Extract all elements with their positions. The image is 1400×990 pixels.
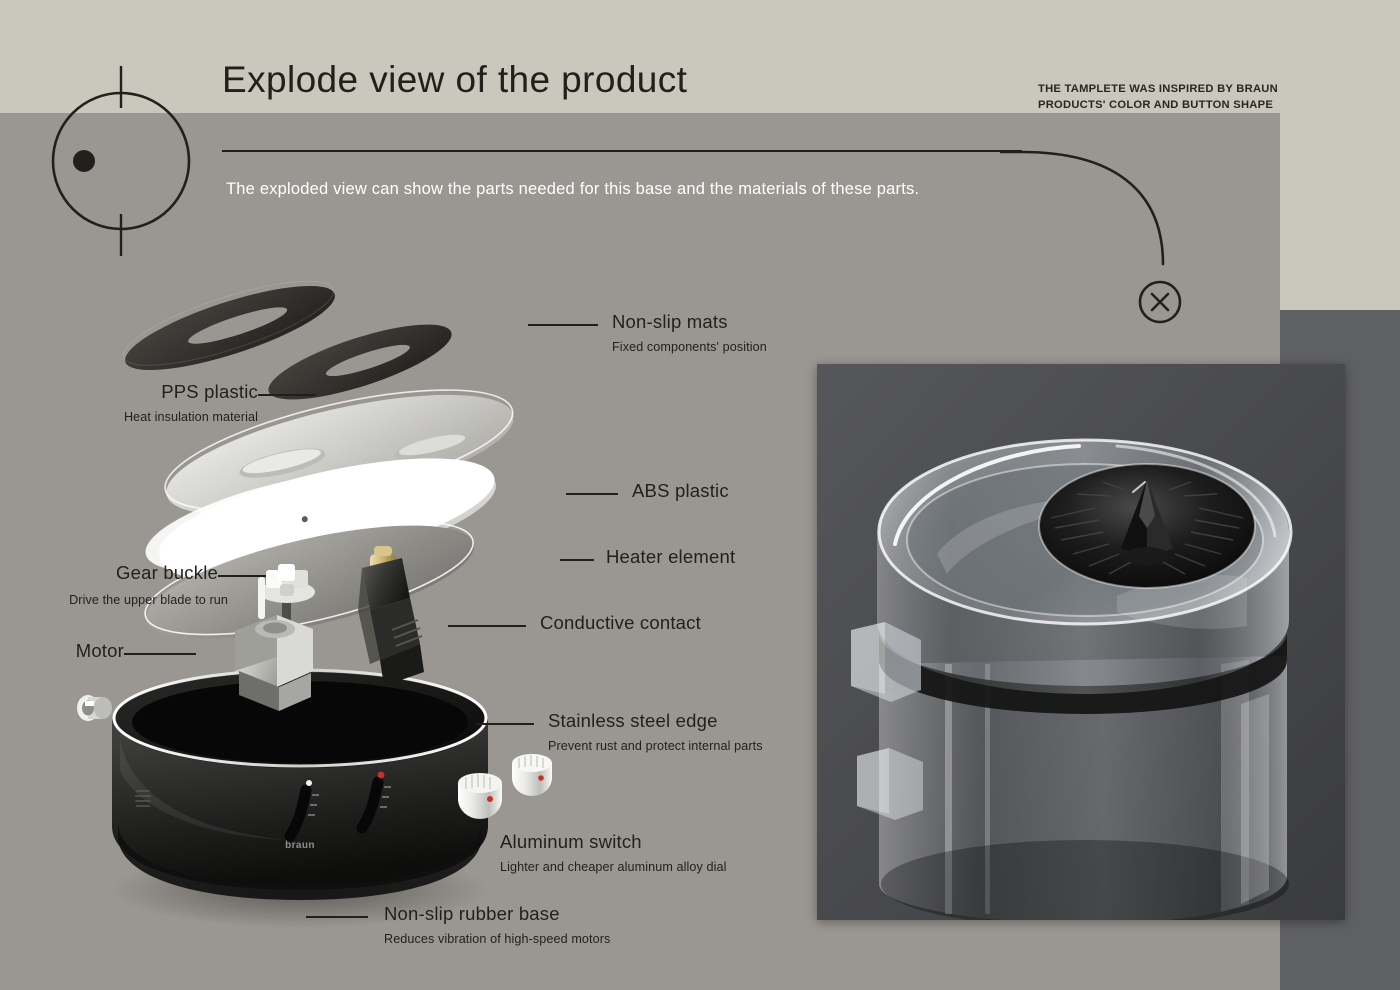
leader-line — [306, 916, 368, 918]
aluminum-knob-part-1 — [458, 773, 502, 819]
leader-line — [566, 493, 618, 495]
annotation-subtitle: Heat insulation material — [28, 411, 258, 424]
product-handle-lower — [857, 748, 923, 820]
motor-bushing-part — [77, 695, 112, 721]
annotation-conductive-contact: Conductive contact — [448, 614, 701, 633]
annotation-abs-plastic: ABS plastic — [566, 482, 729, 501]
annotation-title: Motor — [40, 642, 124, 661]
annotation-title: Aluminum switch — [500, 833, 727, 852]
annotation-pps-plastic: PPS plastic Heat insulation material — [28, 383, 258, 423]
annotation-title: Conductive contact — [540, 614, 701, 633]
product-fan-element — [1039, 464, 1255, 588]
slide-canvas: Explode view of the product THE TAMPLETE… — [0, 0, 1400, 990]
annotation-subtitle: Prevent rust and protect internal parts — [548, 740, 763, 753]
annotation-non-slip-rubber-base: Non-slip rubber base Reduces vibration o… — [306, 905, 610, 945]
leader-line — [560, 559, 594, 561]
base-housing-part: braun — [110, 670, 490, 928]
product-photo — [817, 364, 1345, 920]
leader-line — [476, 723, 534, 725]
leader-line — [218, 575, 266, 577]
annotation-title: PPS plastic — [28, 383, 258, 402]
annotation-subtitle: Reduces vibration of high-speed motors — [384, 933, 610, 946]
leader-line — [124, 653, 196, 655]
annotation-title: Non-slip mats — [612, 313, 767, 332]
intro-text: The exploded view can show the parts nee… — [226, 180, 919, 199]
annotation-stainless-steel-edge: Stainless steel edge Prevent rust and pr… — [476, 712, 763, 752]
leader-line — [448, 625, 526, 627]
annotation-title: Heater element — [606, 548, 735, 567]
inspiration-note: THE TAMPLETE WAS INSPIRED BY BRAUN PRODU… — [1038, 81, 1290, 113]
annotation-motor: Motor — [40, 642, 124, 661]
annotation-title: ABS plastic — [632, 482, 729, 501]
annotation-title: Stainless steel edge — [548, 712, 763, 731]
svg-text:braun: braun — [285, 840, 315, 851]
annotation-gear-buckle-subtitle: Drive the upper blade to run — [38, 594, 228, 607]
annotation-subtitle: Fixed components' position — [612, 341, 767, 354]
annotation-heater-element: Heater element — [560, 548, 735, 567]
annotation-title: Non-slip rubber base — [384, 905, 610, 924]
registration-mark-icon — [41, 66, 201, 256]
annotation-aluminum-switch: Aluminum switch Lighter and cheaper alum… — [500, 833, 727, 873]
product-glass-column — [1241, 694, 1269, 904]
annotation-title: Gear buckle — [38, 564, 218, 583]
aluminum-knob-part-2 — [512, 754, 552, 796]
annotation-non-slip-mats: Non-slip mats Fixed components' position — [528, 313, 767, 353]
annotation-gear-buckle: Gear buckle — [38, 564, 218, 592]
close-x-icon[interactable] — [1136, 278, 1184, 326]
curved-arrow-icon — [1000, 140, 1220, 300]
annotation-subtitle: Lighter and cheaper aluminum alloy dial — [500, 861, 727, 874]
intro-rule — [222, 150, 1022, 152]
leader-line — [258, 394, 316, 396]
annotation-subtitle: Drive the upper blade to run — [38, 594, 228, 607]
leader-line — [528, 324, 598, 326]
page-title: Explode view of the product — [222, 59, 687, 101]
